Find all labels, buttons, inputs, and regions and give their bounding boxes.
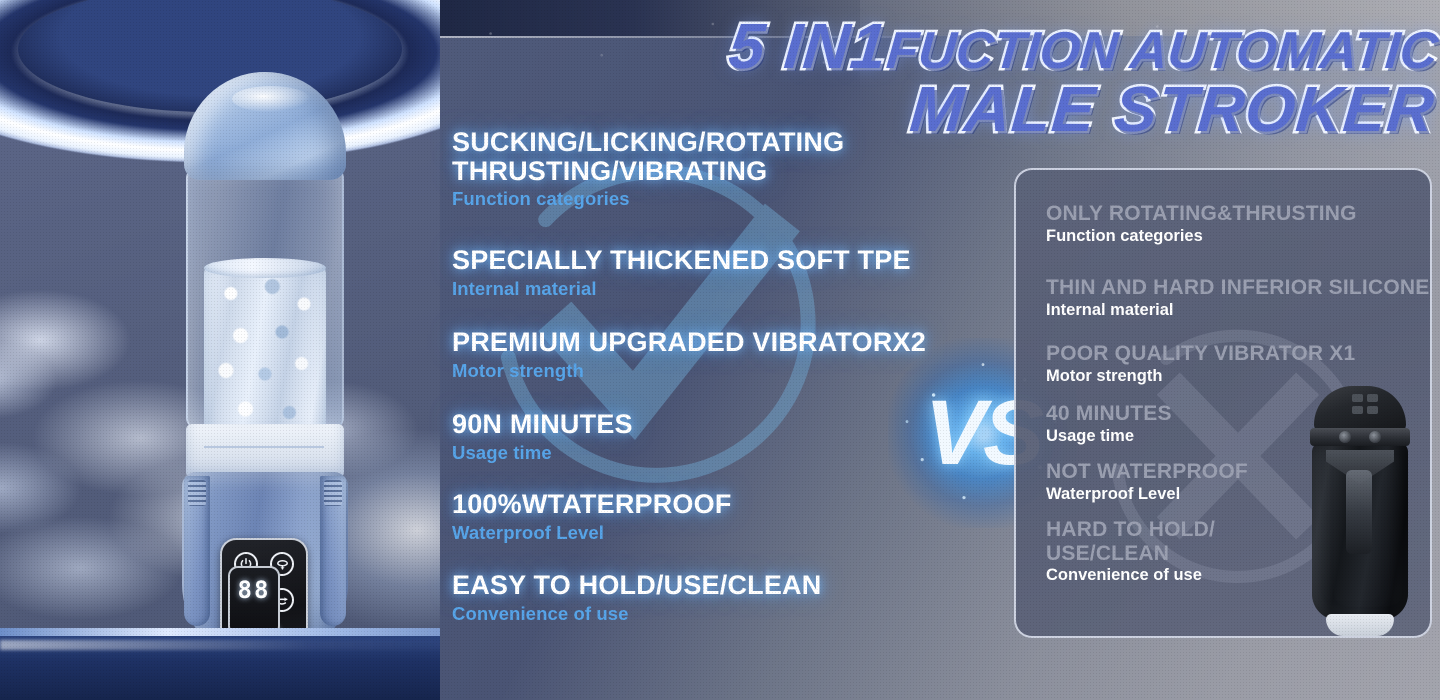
product-collar [186, 424, 344, 478]
cons-item-title: POOR QUALITY VIBRATOR X1 [1046, 342, 1432, 366]
pros-item-title: PREMIUM UPGRADED VIBRATORX2 [452, 328, 952, 357]
competitor-display-dot [1367, 394, 1378, 402]
competitor-display-dot [1352, 406, 1363, 414]
cons-item: POOR QUALITY VIBRATOR X1 Motor strength [1046, 342, 1432, 386]
pros-item-sub: Convenience of use [452, 603, 952, 625]
pros-item: 100%WTATERPROOF Waterproof Level [452, 490, 952, 544]
pros-item-title: SUCKING/LICKING/ROTATINGTHRUSTING/VIBRAT… [452, 128, 952, 185]
cons-item-sub: Motor strength [1046, 367, 1432, 386]
pros-item: EASY TO HOLD/USE/CLEAN Convenience of us… [452, 571, 952, 625]
pros-item: SUCKING/LICKING/ROTATINGTHRUSTING/VIBRAT… [452, 128, 952, 210]
competitor-mode-icon [1369, 431, 1381, 443]
cons-item-sub: Internal material [1046, 301, 1432, 320]
product-collar-line [204, 446, 324, 448]
cons-item: THIN AND HARD INFERIOR SILICONE Internal… [1046, 276, 1432, 320]
product-cap-highlight [232, 86, 310, 112]
pros-item-title: 100%WTATERPROOF [452, 490, 952, 519]
podium-top-edge [0, 628, 440, 636]
competitor-base [1326, 614, 1394, 636]
cons-item-title: ONLY ROTATING&THRUSTING [1046, 202, 1432, 226]
product-left-grip [188, 480, 206, 506]
pros-item-title: SPECIALLY THICKENED SOFT TPE [452, 246, 952, 275]
product-scene: 88 88 [0, 0, 440, 700]
product-podium [0, 628, 440, 700]
infographic-stage: 88 88 5 IN1FUCTION AUTOMATIC MALE STROKE… [0, 0, 1440, 700]
pros-list: SUCKING/LICKING/ROTATINGTHRUSTING/VIBRAT… [452, 128, 952, 628]
headline-badge-count: 5 IN1 [726, 10, 890, 82]
product-sleeve-rim [204, 258, 326, 278]
competitor-body-slot [1346, 470, 1372, 554]
competitor-product-image [1308, 386, 1412, 636]
featured-product-image: 88 88 [170, 72, 360, 652]
product-base-display: 88 [228, 566, 280, 636]
product-inner-sleeve [204, 262, 326, 437]
competitor-display-dot [1367, 406, 1378, 414]
competitor-button-strip [1310, 428, 1410, 446]
pros-item-title: 90N MINUTES [452, 410, 952, 439]
competitor-power-icon [1339, 431, 1351, 443]
competitor-display [1352, 394, 1378, 414]
pros-item: 90N MINUTES Usage time [452, 410, 952, 464]
headline-line-1-text: FUCTION AUTOMATIC [884, 22, 1440, 80]
product-cap [184, 72, 346, 180]
product-right-grip [324, 480, 342, 506]
pros-item-sub: Usage time [452, 442, 952, 464]
pros-item-title: EASY TO HOLD/USE/CLEAN [452, 571, 952, 600]
product-base-display-value: 88 [238, 576, 271, 604]
pros-item-sub: Internal material [452, 278, 952, 300]
cons-item-title: THIN AND HARD INFERIOR SILICONE [1046, 276, 1432, 300]
cons-item: ONLY ROTATING&THRUSTING Function categor… [1046, 202, 1432, 246]
headline-line-2-text: MALE STROKER [907, 73, 1437, 145]
cons-item-sub: Function categories [1046, 227, 1432, 246]
pros-item-sub: Waterproof Level [452, 522, 952, 544]
pros-item: SPECIALLY THICKENED SOFT TPE Internal ma… [452, 246, 952, 300]
competitor-display-dot [1352, 394, 1363, 402]
podium-shine [0, 640, 440, 650]
pros-item-sub: Motor strength [452, 360, 952, 382]
pros-item: PREMIUM UPGRADED VIBRATORX2 Motor streng… [452, 328, 952, 382]
pros-item-sub: Function categories [452, 188, 952, 210]
headline-line-1: 5 IN1FUCTION AUTOMATIC [501, 16, 1440, 77]
